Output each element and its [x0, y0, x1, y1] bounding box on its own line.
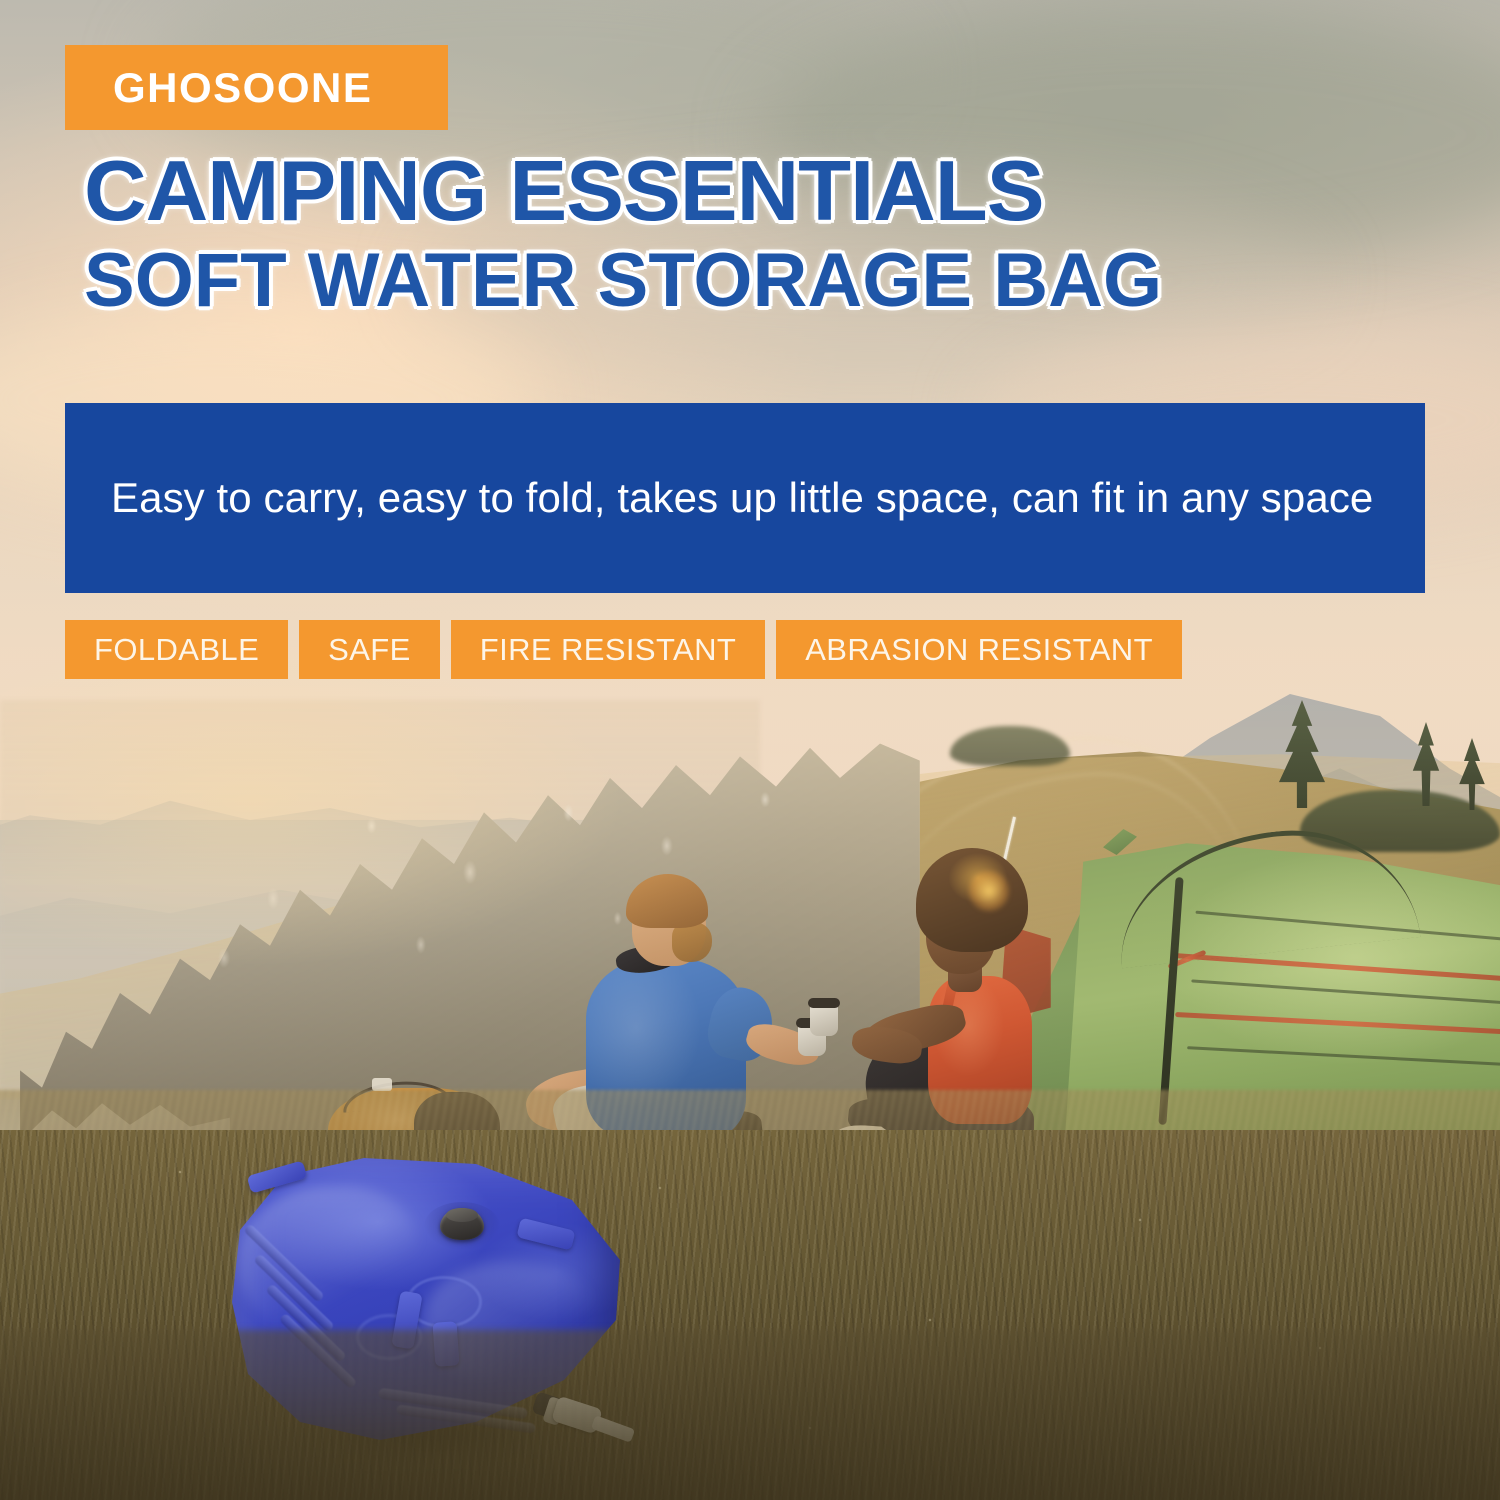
brand-name: GHOSOONE [65, 67, 372, 109]
feature-tag-abrasion-resistant: ABRASION RESISTANT [776, 620, 1182, 679]
blurred-foreground-grass [0, 1330, 1500, 1500]
feature-tag-list: FOLDABLE SAFE FIRE RESISTANT ABRASION RE… [65, 620, 1182, 679]
man-hair [626, 874, 708, 928]
tent-corner-tip [1103, 829, 1137, 855]
feature-tag-label: FOLDABLE [94, 632, 259, 668]
headline-line-1: CAMPING ESSENTIALS [84, 152, 1451, 233]
feature-tag-label: SAFE [328, 632, 411, 668]
brand-badge: GHOSOONE [65, 45, 448, 130]
headline-line-2: SOFT WATER STORAGE BAG [84, 245, 1424, 317]
description-text: Easy to carry, easy to fold, takes up li… [65, 470, 1419, 525]
water-bag-cap-top [446, 1208, 478, 1222]
sun-glow-highlight [968, 870, 1010, 912]
man-beard [672, 922, 712, 962]
feature-tag-safe: SAFE [299, 620, 440, 679]
feature-tag-label: ABRASION RESISTANT [805, 632, 1153, 668]
feature-tag-label: FIRE RESISTANT [480, 632, 737, 668]
feature-tag-foldable: FOLDABLE [65, 620, 288, 679]
woman-cup-lid [808, 998, 840, 1008]
feature-tag-fire-resistant: FIRE RESISTANT [451, 620, 766, 679]
product-marketing-banner: GHOSOONE CAMPING ESSENTIALS SOFT WATER S… [0, 0, 1500, 1500]
description-panel: Easy to carry, easy to fold, takes up li… [65, 403, 1425, 593]
page-title: CAMPING ESSENTIALS SOFT WATER STORAGE BA… [84, 152, 1424, 317]
